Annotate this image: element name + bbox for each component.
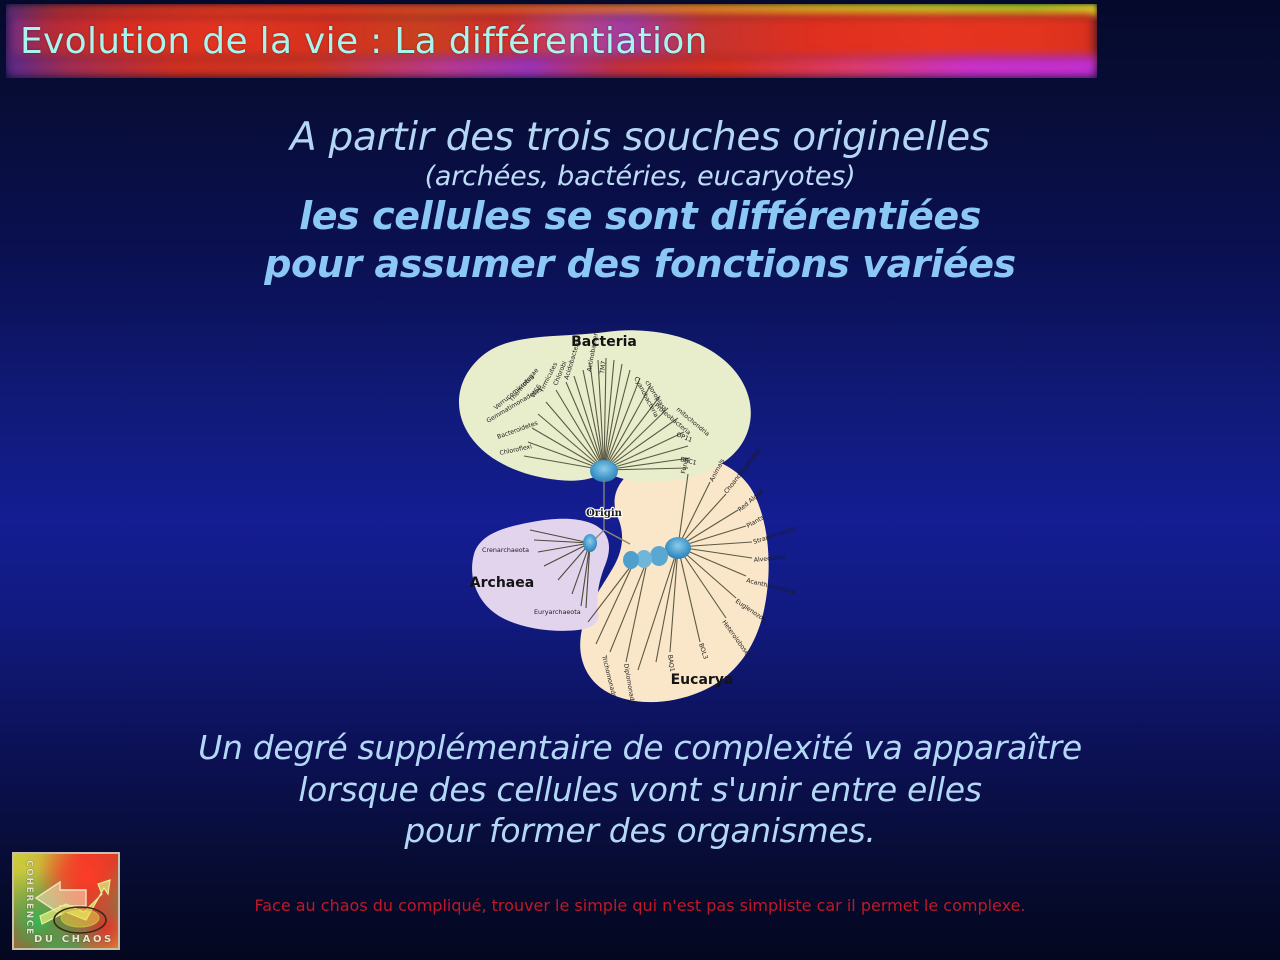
upper-line-1: A partir des trois souches originelles [0, 116, 1280, 160]
footer-tagline: Face au chaos du compliqué, trouver le s… [0, 896, 1280, 915]
upper-line-3: les cellules se sont différentiées [0, 193, 1280, 241]
coherence-du-chaos-logo[interactable]: COHERENCE DU CHAOS [12, 852, 120, 950]
eucarya-hub-node-main [665, 537, 691, 559]
lower-line-1: Un degré supplémentaire de complexité va… [0, 727, 1280, 769]
archaea-hub-node [583, 534, 597, 552]
logo-vertical-label: COHERENCE [17, 860, 33, 936]
eucarya-hub-node-2 [650, 546, 668, 566]
slide-canvas: Evolution de la vie : La différentiation… [0, 0, 1280, 960]
eucarya-hub-node-4 [623, 551, 639, 569]
lower-line-3: pour former des organismes. [0, 810, 1280, 852]
logo-horizontal-label: DU CHAOS [34, 934, 114, 945]
lower-line-2: lorsque des cellules vont s'unir entre e… [0, 769, 1280, 811]
domain-label-archaea: Archaea [470, 575, 534, 591]
upper-text-block: A partir des trois souches originelles (… [0, 116, 1280, 288]
title-banner: Evolution de la vie : La différentiation [6, 4, 1097, 78]
phylogenetic-tree-figure: Origin Bacteria Archaea Eucarya Chlorofl… [438, 322, 798, 712]
domain-label-eucarya: Eucarya [671, 672, 734, 688]
slide-title: Evolution de la vie : La différentiation [20, 21, 708, 62]
upper-line-4: pour assumer des fonctions variées [0, 241, 1280, 289]
tip-label: Crenarchaeota [482, 546, 529, 554]
lower-text-block: Un degré supplémentaire de complexité va… [0, 727, 1280, 852]
upper-line-2: (archées, bactéries, eucaryotes) [0, 160, 1280, 194]
logo-inner-ellipse-icon [61, 909, 99, 927]
bacteria-hub-node [590, 460, 618, 482]
origin-label: Origin [586, 508, 623, 519]
tip-label: Euryarchaeota [534, 608, 581, 616]
